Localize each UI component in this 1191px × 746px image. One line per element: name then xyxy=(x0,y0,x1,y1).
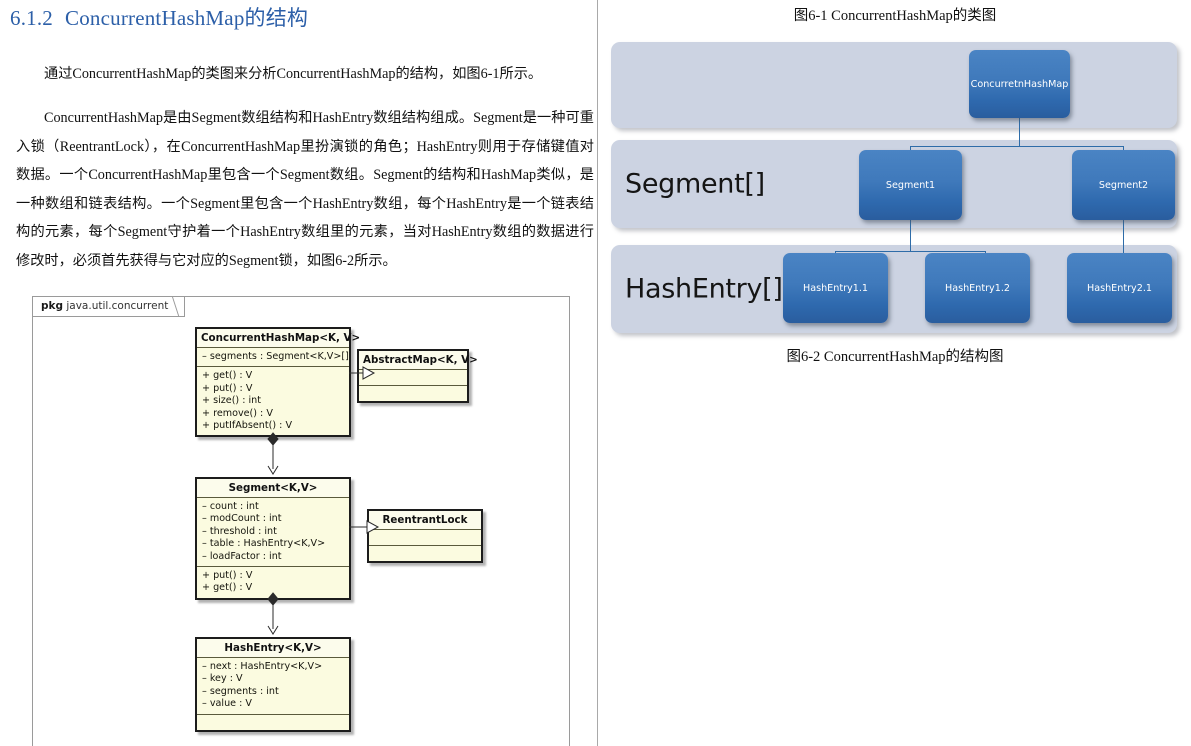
uml-operations: + get() : V + put() : V + size() : int +… xyxy=(197,366,349,435)
uml-attribute: – modCount : int xyxy=(202,513,344,525)
structure-row-root xyxy=(611,42,1177,128)
uml-class-reentrantlock: ReentrantLock xyxy=(367,509,483,563)
uml-class-name: ConcurrentHashMap<K, V> xyxy=(197,329,349,348)
uml-operation: + put() : V xyxy=(202,570,344,582)
uml-package-tab: pkg java.util.concurrent xyxy=(33,297,185,317)
section-number: 6.1.2 xyxy=(10,6,53,30)
uml-operations xyxy=(369,545,481,561)
uml-operation: + size() : int xyxy=(202,395,344,407)
uml-attribute: – count : int xyxy=(202,501,344,513)
left-page: 6.1.2ConcurrentHashMap的结构 通过ConcurrentHa… xyxy=(0,0,596,746)
uml-attribute: – segments : Segment<K,V>[] xyxy=(202,351,344,363)
package-name: java.util.concurrent xyxy=(66,300,168,312)
uml-attribute: – loadFactor : int xyxy=(202,551,344,563)
node-segment1: Segment1 xyxy=(859,150,962,220)
uml-attributes: – next : HashEntry<K,V> – key : V – segm… xyxy=(197,658,349,714)
uml-class-segment: Segment<K,V> – count : int – modCount : … xyxy=(195,477,351,600)
node-hashentry-1-2: HashEntry1.2 xyxy=(925,253,1030,323)
paragraph-structure: ConcurrentHashMap是由Segment数组结构和HashEntry… xyxy=(16,104,594,275)
page-title: 6.1.2ConcurrentHashMap的结构 xyxy=(10,2,308,32)
uml-attributes: – count : int – modCount : int – thresho… xyxy=(197,498,349,566)
uml-attribute: – key : V xyxy=(202,673,344,685)
uml-package-frame: pkg java.util.concurrent ConcurrentHashM… xyxy=(32,296,570,746)
node-concurrenthashmap: ConcurretnHashMap xyxy=(969,50,1070,118)
uml-operation: + get() : V xyxy=(202,370,344,382)
uml-attribute: – threshold : int xyxy=(202,526,344,538)
page-divider xyxy=(597,0,598,746)
uml-attributes: – segments : Segment<K,V>[] xyxy=(197,348,349,366)
connector-segment-bus xyxy=(910,146,1123,147)
connector-segment2-child-down xyxy=(1123,220,1124,257)
uml-class-name: ReentrantLock xyxy=(369,511,481,530)
uml-attribute: – next : HashEntry<K,V> xyxy=(202,661,344,673)
uml-operation: + putIfAbsent() : V xyxy=(202,420,344,432)
uml-attribute: – value : V xyxy=(202,698,344,710)
uml-composition-hashentry xyxy=(261,593,285,639)
uml-class-name: HashEntry<K,V> xyxy=(197,639,349,658)
connector-root-down xyxy=(1019,118,1020,146)
uml-operation: + remove() : V xyxy=(202,408,344,420)
uml-generalization-abstractmap xyxy=(349,365,375,381)
row-label-hashentry: HashEntry[] xyxy=(625,274,783,305)
uml-operation: + put() : V xyxy=(202,383,344,395)
uml-operations xyxy=(197,714,349,730)
figure-caption-6-2: 图6-2 ConcurrentHashMap的结构图 xyxy=(599,345,1191,366)
uml-attribute: – segments : int xyxy=(202,686,344,698)
uml-attributes xyxy=(369,530,481,545)
uml-class-hashentry: HashEntry<K,V> – next : HashEntry<K,V> –… xyxy=(195,637,351,732)
uml-operations xyxy=(359,385,467,401)
uml-composition-segment xyxy=(261,433,285,479)
connector-segment1-child-down xyxy=(910,220,911,251)
uml-class-name: Segment<K,V> xyxy=(197,479,349,498)
node-hashentry-1-1: HashEntry1.1 xyxy=(783,253,888,323)
row-label-segment: Segment[] xyxy=(625,169,765,200)
paragraph-intro: 通过ConcurrentHashMap的类图来分析ConcurrentHashM… xyxy=(16,60,576,89)
node-segment2: Segment2 xyxy=(1072,150,1175,220)
uml-attributes xyxy=(359,370,467,385)
node-hashentry-2-1: HashEntry2.1 xyxy=(1067,253,1172,323)
uml-generalization-reentrantlock xyxy=(349,519,379,535)
uml-attribute: – table : HashEntry<K,V> xyxy=(202,538,344,550)
right-page: 图6-1 ConcurrentHashMap的类图 Segment[] Hash… xyxy=(599,0,1191,746)
uml-class-name: AbstractMap<K, V> xyxy=(359,351,467,370)
package-keyword: pkg xyxy=(41,300,63,312)
uml-class-concurrenthashmap: ConcurrentHashMap<K, V> – segments : Seg… xyxy=(195,327,351,437)
figure-caption-6-1: 图6-1 ConcurrentHashMap的类图 xyxy=(599,4,1191,25)
section-title: ConcurrentHashMap的结构 xyxy=(65,6,308,30)
